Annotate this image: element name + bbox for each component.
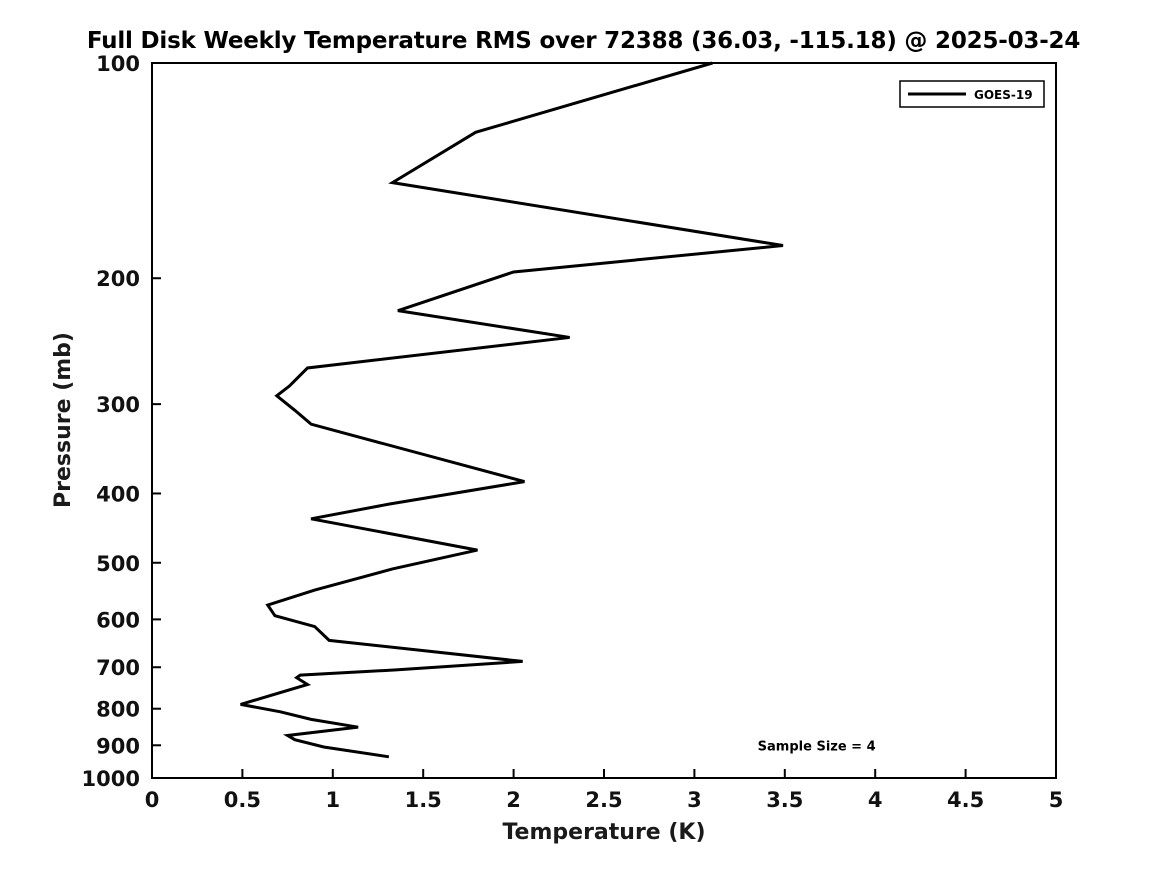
x-tick-label: 2 [506, 788, 521, 812]
sample-size-annotation: Sample Size = 4 [758, 739, 876, 754]
legend[interactable]: GOES-19 [900, 81, 1044, 107]
y-axis-title: Pressure (mb) [51, 332, 76, 508]
plot-frame [152, 63, 1056, 778]
y-tick-label: 1000 [82, 767, 140, 791]
x-tick-label: 1.5 [405, 788, 442, 812]
x-tick-label: 2.5 [585, 788, 622, 812]
chart-figure: Full Disk Weekly Temperature RMS over 72… [0, 0, 1167, 875]
legend-item-label: GOES-19 [974, 88, 1033, 102]
x-axis-tick-labels: 00.511.522.533.544.55 [145, 788, 1064, 812]
x-tick-label: 1 [325, 788, 340, 812]
y-tick-label: 100 [96, 52, 140, 76]
y-tick-label: 200 [96, 267, 140, 291]
data-series-layer [241, 63, 783, 757]
x-tick-label: 4 [868, 788, 883, 812]
x-axis-title: Temperature (K) [502, 820, 705, 845]
x-tick-label: 5 [1049, 788, 1064, 812]
x-tick-label: 0 [145, 788, 160, 812]
x-axis-ticks [152, 769, 1056, 778]
y-axis-ticks [152, 63, 161, 778]
x-tick-label: 3 [687, 788, 702, 812]
y-tick-label: 800 [96, 698, 140, 722]
annotation-layer: Sample Size = 4 [758, 739, 876, 754]
x-tick-label: 3.5 [766, 788, 803, 812]
y-tick-label: 500 [96, 552, 140, 576]
y-tick-label: 600 [96, 608, 140, 632]
y-tick-label: 900 [96, 734, 140, 758]
y-tick-label: 400 [96, 482, 140, 506]
y-tick-label: 300 [96, 393, 140, 417]
y-tick-label: 700 [96, 656, 140, 680]
x-tick-label: 4.5 [947, 788, 984, 812]
series-line [241, 63, 783, 757]
line-chart-plot: 00.511.522.533.544.55 100200300400500600… [0, 0, 1167, 875]
x-tick-label: 0.5 [224, 788, 261, 812]
y-axis-tick-labels: 1002003004005006007008009001000 [82, 52, 140, 791]
